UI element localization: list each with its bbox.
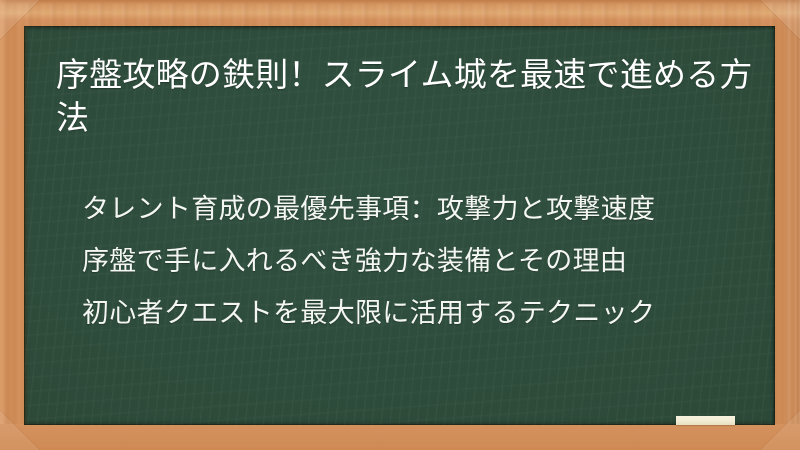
frame-left-highlight: [0, 0, 8, 450]
frame-right-grain: [786, 0, 800, 450]
chalkboard-surface: 序盤攻略の鉄則！スライム城を最速で進める方法 タレント育成の最優先事項：攻撃力と…: [24, 26, 775, 425]
frame-bottom-ledge: [0, 424, 800, 450]
bullet-item: 序盤で手に入れるべき強力な装備とその理由: [82, 235, 772, 287]
bullet-list: タレント育成の最優先事項：攻撃力と攻撃速度 序盤で手に入れるべき強力な装備とその…: [82, 183, 772, 339]
chalk-stick-icon: [676, 416, 735, 425]
bullet-item: タレント育成の最優先事項：攻撃力と攻撃速度: [82, 183, 772, 235]
blackboard-slide: 序盤攻略の鉄則！スライム城を最速で進める方法 タレント育成の最優先事項：攻撃力と…: [0, 0, 800, 450]
frame-top-edge: [0, 0, 800, 3]
slide-title: 序盤攻略の鉄則！スライム城を最速で進める方法: [56, 53, 756, 139]
bullet-item: 初心者クエストを最大限に活用するテクニック: [82, 287, 772, 339]
